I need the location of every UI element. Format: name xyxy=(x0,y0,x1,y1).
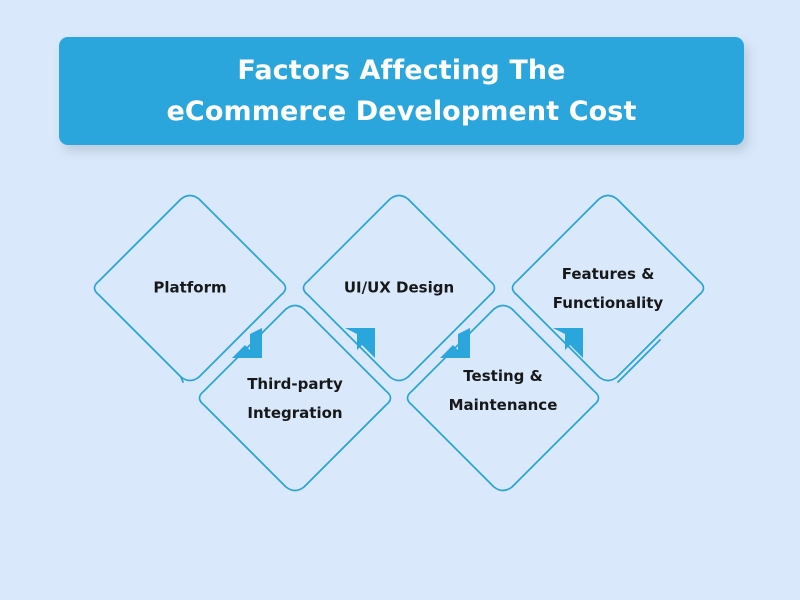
diamond-outline-platform xyxy=(181,196,286,383)
diamond-outline-features-functionality xyxy=(513,196,704,381)
diagram-shapes xyxy=(0,0,800,600)
connector-accent-platform-to-integration xyxy=(232,328,262,358)
factors-diagram: Platform Third-party Integration UI/UX D… xyxy=(0,0,800,600)
diamond-outline-platform-left xyxy=(95,199,182,377)
diamond-tail-features-functionality xyxy=(618,340,660,382)
connector-accent-uiux-to-testing xyxy=(440,328,470,358)
